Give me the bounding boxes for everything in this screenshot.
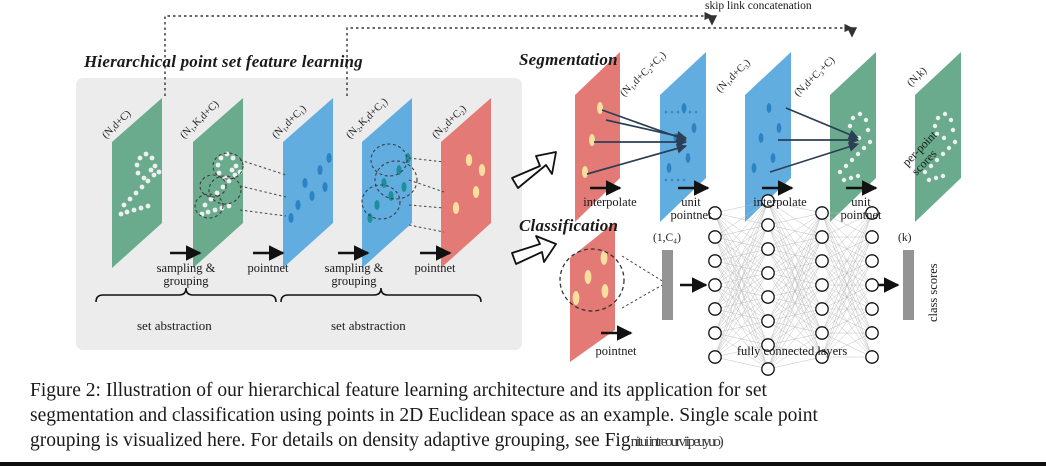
class-scores-bar: [903, 250, 914, 320]
global-feature-bar: [662, 250, 673, 320]
op-label-sampling-grouping-1: sampling & grouping: [140, 262, 232, 288]
figure-2-container: Hierarchical point set feature learning …: [0, 0, 1046, 466]
encoder-plane-4: [362, 98, 417, 268]
op-label-interpolate-1: interpolate: [574, 196, 646, 209]
op-label-pointnet-1: pointnet: [228, 262, 308, 275]
op-label-pointnet-2: pointnet: [395, 262, 475, 275]
caption-garbled-overlap: nitui intreourviipeuyuo): [631, 434, 722, 450]
caption-line-3-wrap: grouping is visualized here. For details…: [30, 428, 1020, 455]
op-label-unit-pointnet-2: unit pointnet: [830, 196, 892, 222]
figure-caption: Figure 2: Illustration of our hierarchic…: [30, 378, 1020, 455]
op-label-interpolate-2: interpolate: [744, 196, 816, 209]
op-label-sampling-grouping-2: sampling & grouping: [308, 262, 400, 288]
op-label-fully-connected-layers: fully connected layers: [712, 345, 872, 358]
classification-plane-red: [560, 222, 624, 362]
caption-line-3: grouping is visualized here. For details…: [30, 430, 631, 451]
title-hierarchical: Hierarchical point set feature learning: [84, 52, 363, 72]
skip-link-label: skip link concatenation: [705, 0, 812, 12]
brace-label-set-abstraction-2: set abstraction: [331, 318, 406, 334]
op-label-pointnet-cls: pointnet: [580, 345, 652, 358]
brace-label-set-abstraction-1: set abstraction: [137, 318, 212, 334]
dim-label-cls-1: (1,C₄): [653, 232, 681, 244]
classification-branch-arrow: [512, 236, 556, 264]
title-segmentation: Segmentation: [519, 50, 618, 70]
set-abstraction-braces: [96, 288, 481, 302]
bottom-rule: [0, 462, 1046, 466]
output-label-class-scores: class scores: [926, 263, 941, 322]
op-label-unit-pointnet-1: unit pointnet: [660, 196, 722, 222]
title-classification: Classification: [519, 216, 618, 236]
classification-cone-lines: [622, 256, 664, 308]
segmentation-branch-arrow: [512, 152, 556, 188]
caption-line-1: Figure 2: Illustration of our hierarchic…: [30, 378, 1020, 403]
caption-line-2: segmentation and classification using po…: [30, 403, 1020, 428]
skip-arrow-heads: [708, 16, 856, 36]
dim-label-cls-2: (k): [898, 232, 911, 244]
